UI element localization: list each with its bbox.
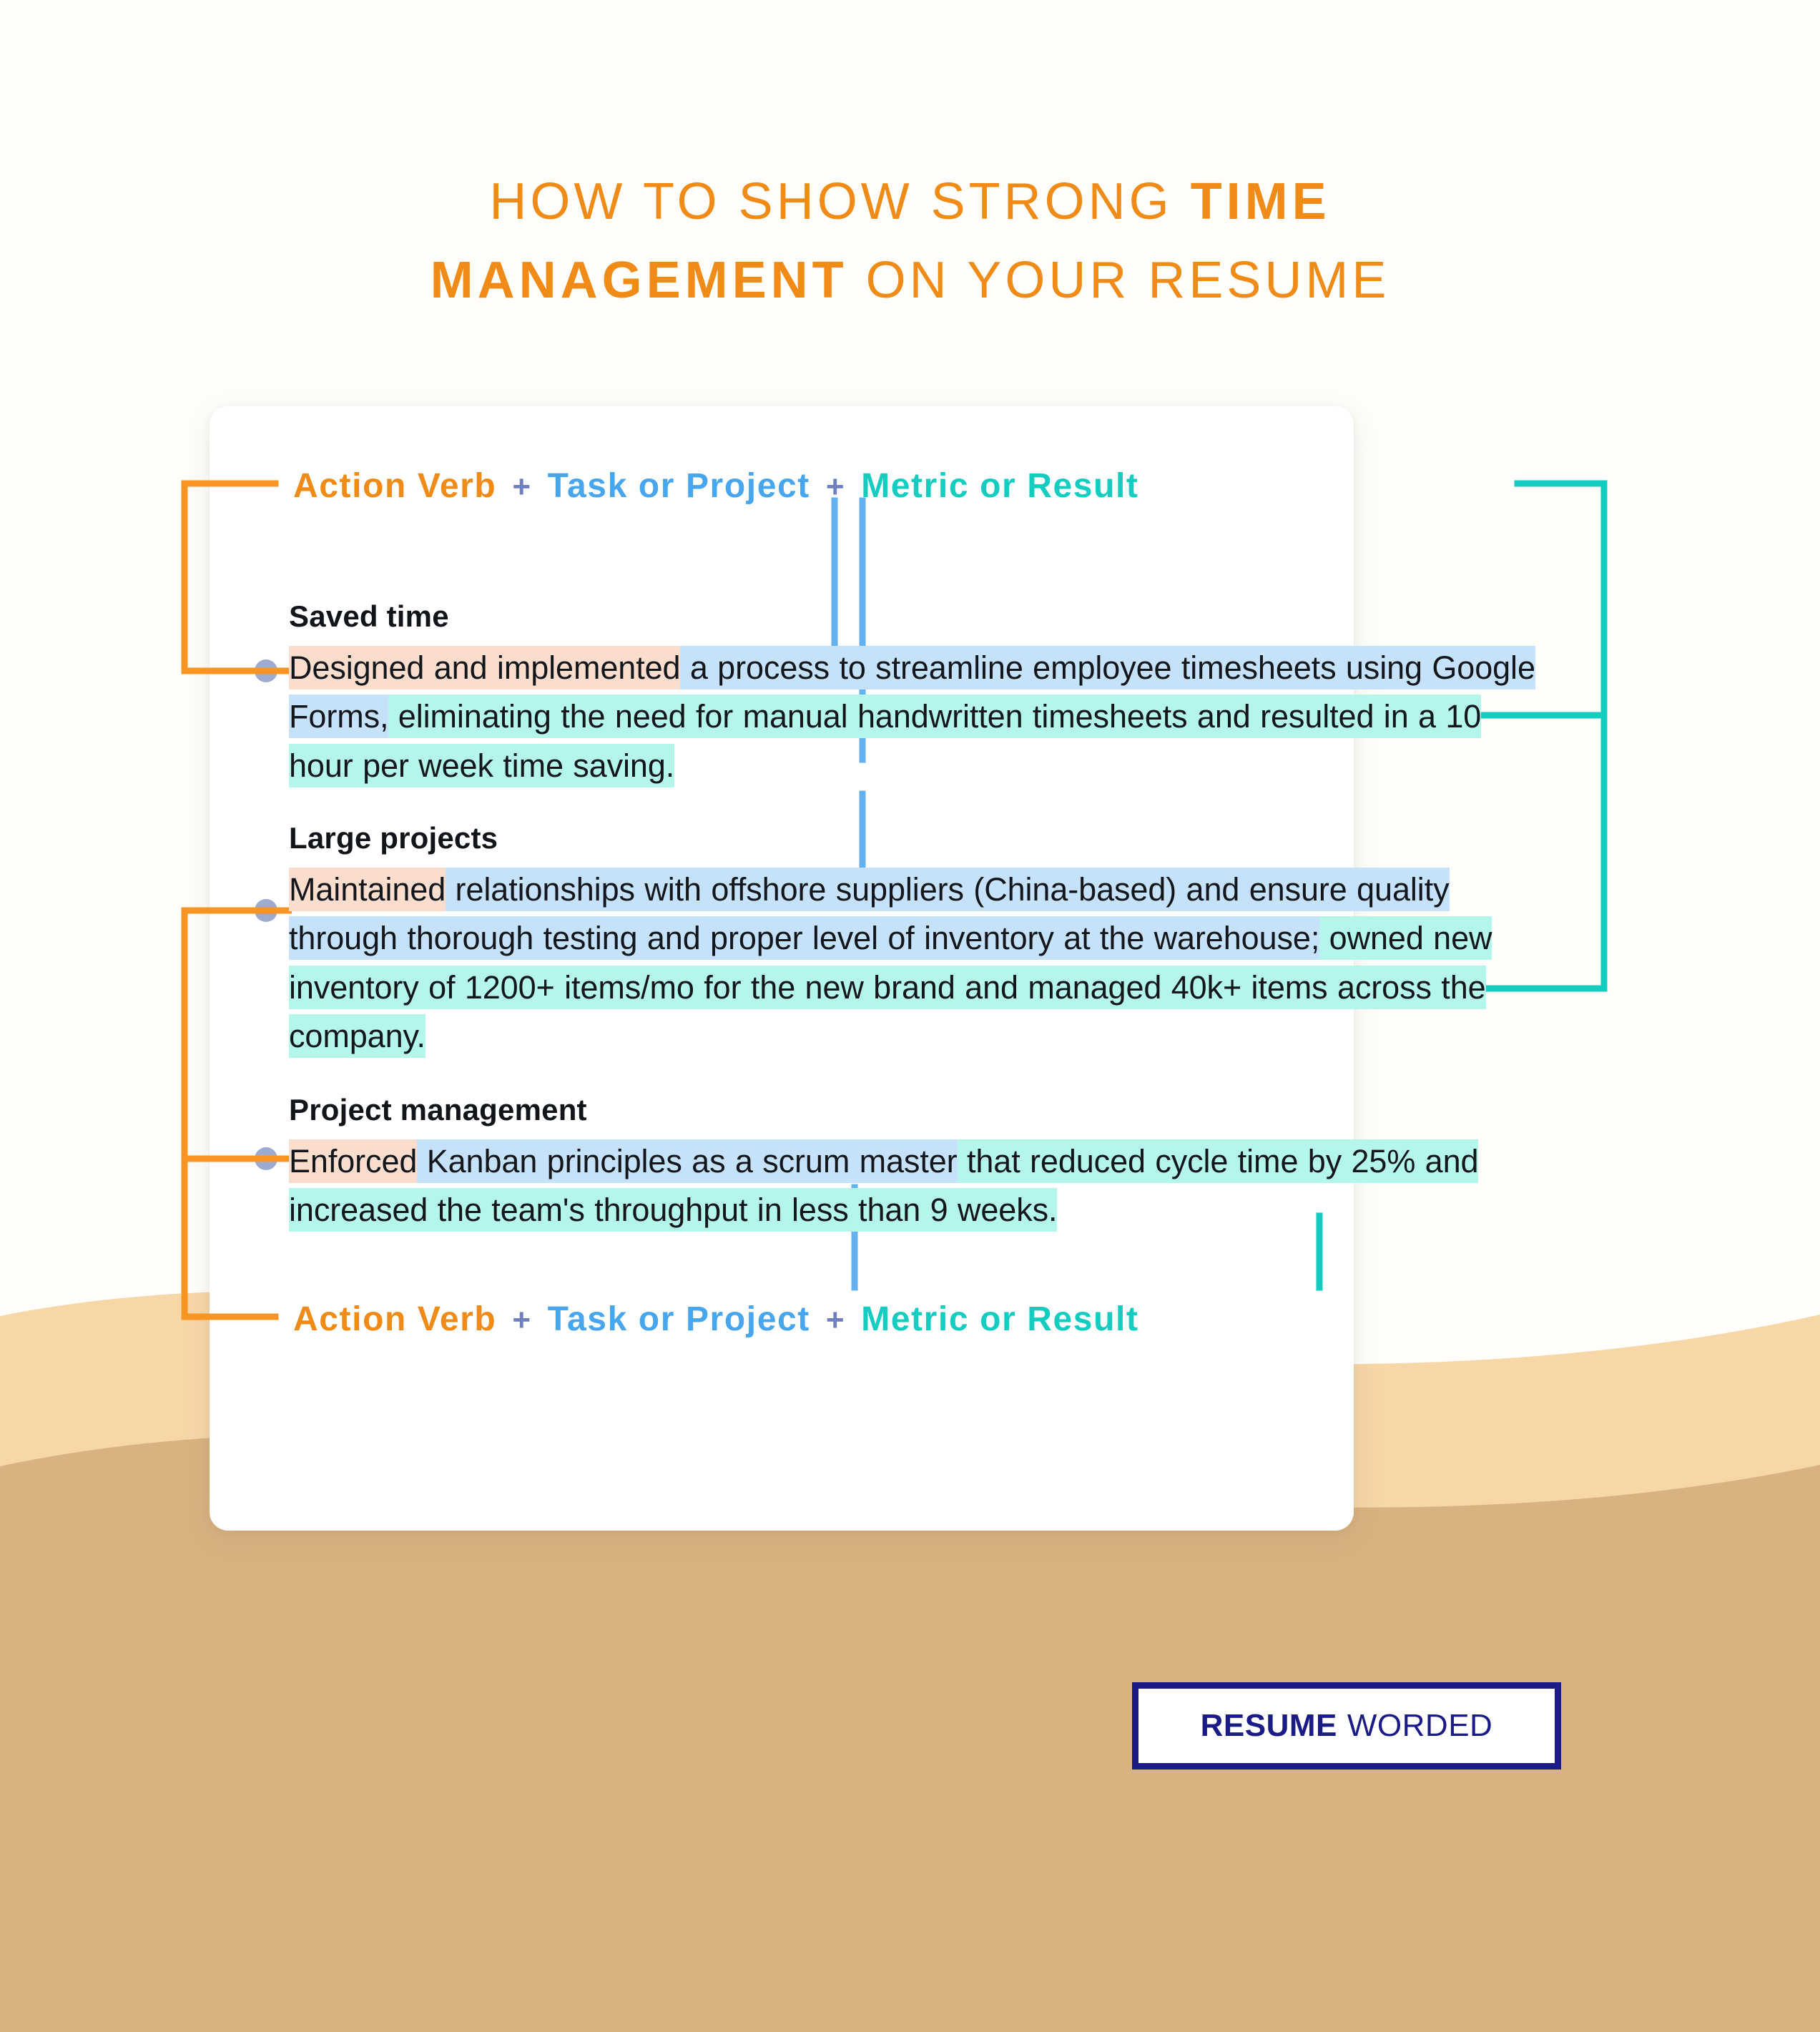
page-title-line-2: MANAGEMENT ON YOUR RESUME bbox=[0, 242, 1820, 320]
bullet-block-large-projects: Large projects Maintained relationships … bbox=[289, 821, 1548, 1061]
bullet-verb-highlight: Designed and implemented bbox=[289, 646, 680, 689]
formula-plus-1: + bbox=[496, 1302, 547, 1338]
logo-bold-text: RESUME bbox=[1201, 1708, 1337, 1744]
resume-worded-logo[interactable]: RESUMEWORDED bbox=[1132, 1682, 1561, 1770]
page-title-line-1-plain: HOW TO SHOW STRONG bbox=[489, 173, 1190, 230]
bullet-verb-highlight: Enforced bbox=[289, 1139, 417, 1183]
bullet-block-project-management: Project management Enforced Kanban princ… bbox=[289, 1093, 1548, 1235]
formula-plus-1: + bbox=[496, 469, 547, 504]
page-title-line-1-bold: TIME bbox=[1191, 173, 1331, 230]
bullet-metric-highlight: eliminating the need for manual handwrit… bbox=[289, 694, 1481, 787]
page-title: HOW TO SHOW STRONG TIME MANAGEMENT ON YO… bbox=[0, 163, 1820, 320]
formula-row-top: Action Verb+Task or Project+Metric or Re… bbox=[293, 466, 1139, 506]
infographic-page: HOW TO SHOW STRONG TIME MANAGEMENT ON YO… bbox=[0, 0, 1820, 2032]
logo-light-text: WORDED bbox=[1337, 1708, 1492, 1744]
page-title-line-2-plain: ON YOUR RESUME bbox=[848, 252, 1390, 309]
bullet-block-saved-time: Saved time Designed and implemented a pr… bbox=[289, 599, 1548, 790]
formula-task-label: Task or Project bbox=[548, 467, 810, 505]
formula-metric-label: Metric or Result bbox=[861, 1300, 1138, 1338]
formula-action-verb-label: Action Verb bbox=[293, 467, 496, 505]
bullet-body: Maintained relationships with offshore s… bbox=[289, 865, 1548, 1061]
bullet-title: Saved time bbox=[289, 599, 1548, 634]
bullet-task-highlight: relationships with offshore suppliers (C… bbox=[289, 868, 1450, 960]
formula-plus-2: + bbox=[810, 1302, 861, 1338]
formula-task-label: Task or Project bbox=[548, 1300, 810, 1338]
bullet-body: Designed and implemented a process to st… bbox=[289, 644, 1548, 790]
formula-metric-label: Metric or Result bbox=[861, 467, 1138, 505]
bullet-title: Project management bbox=[289, 1093, 1548, 1127]
formula-action-verb-label: Action Verb bbox=[293, 1300, 496, 1338]
bullet-verb-highlight: Maintained bbox=[289, 868, 446, 911]
page-title-line-2-bold: MANAGEMENT bbox=[431, 252, 848, 309]
bullet-title: Large projects bbox=[289, 821, 1548, 855]
bullet-body: Enforced Kanban principles as a scrum ma… bbox=[289, 1137, 1548, 1235]
formula-plus-2: + bbox=[810, 469, 861, 504]
formula-row-bottom: Action Verb+Task or Project+Metric or Re… bbox=[293, 1300, 1139, 1339]
page-title-line-1: HOW TO SHOW STRONG TIME bbox=[0, 163, 1820, 241]
bullet-task-highlight: Kanban principles as a scrum master bbox=[417, 1139, 957, 1183]
